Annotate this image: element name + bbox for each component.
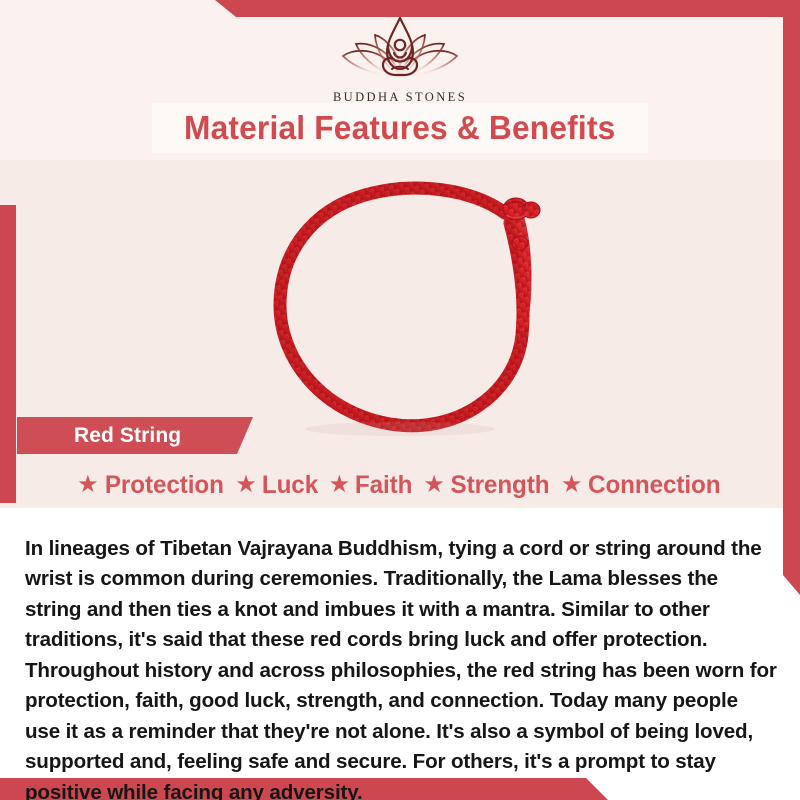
feature-label: Protection [104,471,223,500]
star-icon: ★ [561,473,583,497]
feature-item-protection: ★ Protection [73,471,229,500]
feature-label: Strength [450,471,549,500]
star-icon: ★ [235,473,257,497]
lotus-meditation-icon [325,16,475,87]
product-tag: Red String [17,417,253,454]
feature-item-strength: ★ Strength [419,471,555,500]
product-tag-label: Red String [74,424,181,448]
star-icon: ★ [77,473,99,497]
feature-label: Faith [355,471,412,500]
feature-item-faith: ★ Faith [325,471,418,500]
product-feature-poster: BUDDHA STONES Material Features & Benefi… [0,0,800,800]
feature-item-luck: ★ Luck [231,471,322,500]
star-icon: ★ [329,473,351,497]
feature-label: Connection [588,471,720,500]
brand-logo: BUDDHA STONES [0,16,800,105]
product-image [200,165,600,450]
feature-list: ★ Protection ★ Luck ★ Faith ★ Strength ★… [0,465,800,505]
description-text: In lineages of Tibetan Vajrayana Buddhis… [25,534,777,800]
star-icon: ★ [423,473,445,497]
feature-label: Luck [262,471,318,500]
title-banner: Material Features & Benefits [152,103,648,153]
decorative-bar-left [0,205,16,503]
page-title: Material Features & Benefits [184,109,615,147]
feature-item-connection: ★ Connection [557,471,727,500]
